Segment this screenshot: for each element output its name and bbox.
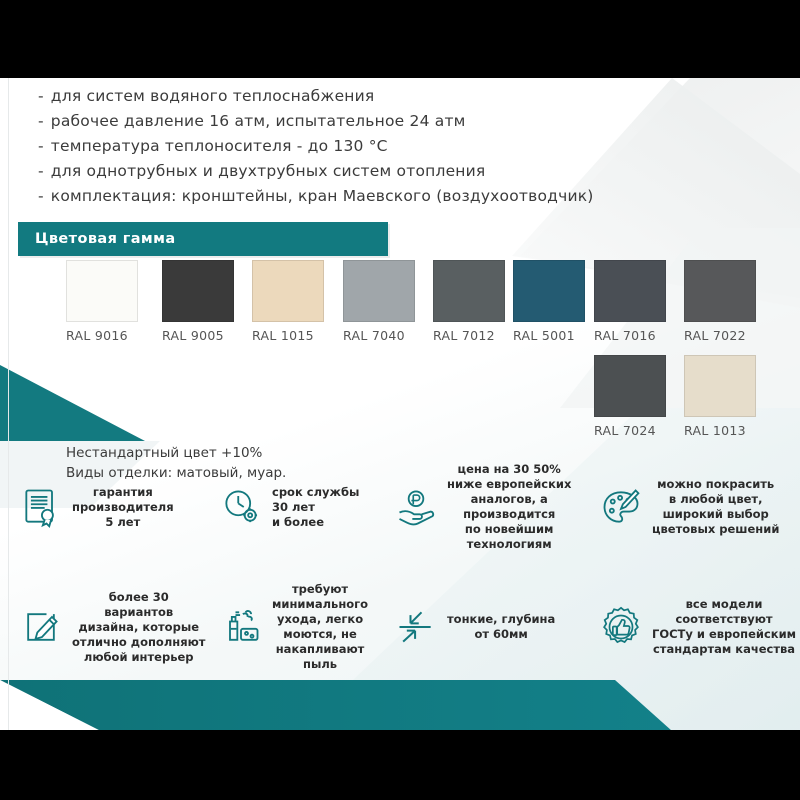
color-swatch[interactable]: RAL 9005 [162,260,234,343]
color-swatch-label: RAL 9016 [66,328,138,343]
color-swatch[interactable]: RAL 5001 [513,260,585,343]
feature-service-life: срок службы 30 лет и более [210,458,385,556]
feature-quality-standards-text: все модели соответствуют ГОСТу и европей… [652,597,796,657]
infographic-canvas: - для систем водяного теплоснабжения - р… [0,0,800,800]
color-swatch-label: RAL 7016 [594,328,666,343]
spec-item: - комплектация: кронштейны, кран Маевско… [38,186,638,207]
color-swatch[interactable]: RAL 1015 [252,260,324,343]
color-swatch-label: RAL 5001 [513,328,585,343]
features-row-2: более 30 вариантов дизайна, которые отли… [10,578,800,676]
color-swatch-chip [594,355,666,417]
color-swatch-label: RAL 1015 [252,328,324,343]
color-swatch-label: RAL 1013 [684,423,756,438]
spec-dash: - [38,86,44,107]
color-swatch-chip [66,260,138,322]
color-gamut-header: Цветовая гамма [18,222,388,256]
color-swatch[interactable]: RAL 7012 [433,260,505,343]
color-gamut-title: Цветовая гамма [35,231,176,247]
color-swatch-chip [513,260,585,322]
letterbox-top [0,0,800,78]
feature-easy-care-text: требуют минимального ухода, легко моются… [272,582,368,672]
pencil-edit-icon [16,602,66,652]
color-swatch-chip [684,355,756,417]
color-swatch-label: RAL 7040 [343,328,415,343]
color-swatch-label: RAL 7012 [433,328,505,343]
content-page: - для систем водяного теплоснабжения - р… [0,78,800,730]
spec-dash: - [38,136,44,157]
feature-price: цена на 30 50% ниже европейских аналогов… [385,458,590,556]
feature-design-variants: более 30 вариантов дизайна, которые отли… [10,578,210,676]
color-swatch[interactable]: RAL 7016 [594,260,666,343]
feature-service-life-text: срок службы 30 лет и более [272,485,359,530]
feature-warranty-text: гарантия производителя 5 лет [72,485,174,530]
feature-price-text: цена на 30 50% ниже европейских аналогов… [447,462,571,552]
color-swatch-chip [252,260,324,322]
color-swatch-chip [684,260,756,322]
feature-thin-depth-text: тонкие, глубина от 60мм [447,612,555,642]
spec-text: для однотрубных и двухтрубных систем ото… [51,161,486,182]
feature-design-variants-text: более 30 вариантов дизайна, которые отли… [72,590,205,665]
clock-gear-icon [216,482,266,532]
color-swatch-chip [594,260,666,322]
color-swatch-label: RAL 9005 [162,328,234,343]
feature-thin-depth: тонкие, глубина от 60мм [385,578,590,676]
color-swatch[interactable]: RAL 7040 [343,260,415,343]
spec-dash: - [38,111,44,132]
feature-paintable: можно покрасить в любой цвет, широкий вы… [590,458,795,556]
spec-text: рабочее давление 16 атм, испытательное 2… [51,111,466,132]
feature-paintable-text: можно покрасить в любой цвет, широкий вы… [652,477,779,537]
spec-text: для систем водяного теплоснабжения [51,86,375,107]
specs-list: - для систем водяного теплоснабжения - р… [38,86,638,211]
color-swatch[interactable]: RAL 9016 [66,260,138,343]
spec-dash: - [38,161,44,182]
spec-item: - рабочее давление 16 атм, испытательное… [38,111,638,132]
palette-brush-icon [596,482,646,532]
features-section: гарантия производителя 5 лет [10,458,800,676]
spray-sponge-icon [216,602,266,652]
quality-thumb-icon [596,602,646,652]
color-swatch-chip [343,260,415,322]
spec-dash: - [38,186,44,207]
color-swatch-label: RAL 7022 [684,328,756,343]
hand-ruble-icon [391,482,441,532]
certificate-icon [16,482,66,532]
feature-warranty: гарантия производителя 5 лет [10,458,210,556]
spec-text: температура теплоносителя - до 130 °C [51,136,388,157]
feature-easy-care: требуют минимального ухода, легко моются… [210,578,385,676]
color-swatch-chip [433,260,505,322]
letterbox-bottom [0,730,800,800]
color-swatch[interactable]: RAL 7024 [594,355,666,438]
spec-item: - для однотрубных и двухтрубных систем о… [38,161,638,182]
feature-quality-standards: все модели соответствуют ГОСТу и европей… [590,578,795,676]
spec-item: - для систем водяного теплоснабжения [38,86,638,107]
arrows-depth-icon [391,602,441,652]
features-row-1: гарантия производителя 5 лет [10,458,800,556]
spec-item: - температура теплоносителя - до 130 °C [38,136,638,157]
color-swatch-chip [162,260,234,322]
spec-text: комплектация: кронштейны, кран Маевского… [51,186,594,207]
color-swatch[interactable]: RAL 1013 [684,355,756,438]
color-swatch[interactable]: RAL 7022 [684,260,756,343]
color-swatch-label: RAL 7024 [594,423,666,438]
